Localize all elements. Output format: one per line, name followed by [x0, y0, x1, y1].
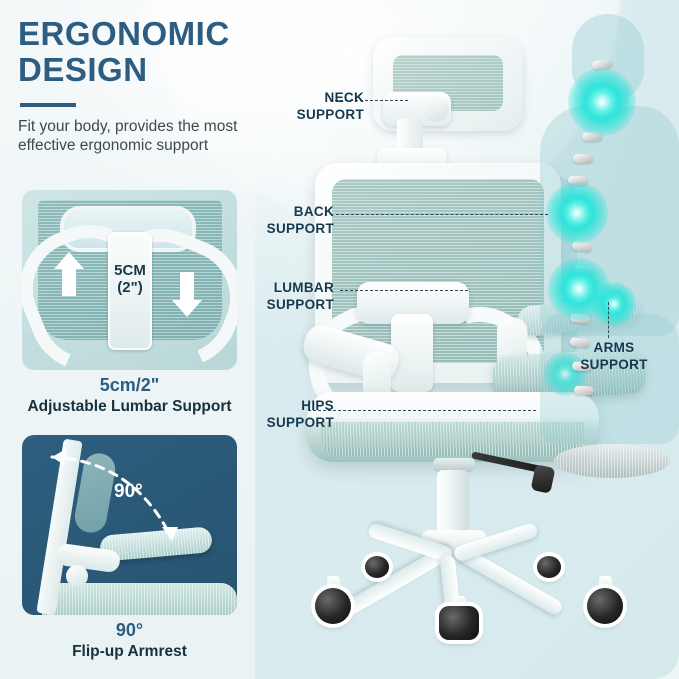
glow-midback-core [564, 200, 590, 226]
human-spine-silhouette [540, 14, 679, 484]
header-block: ERGONOMIC DESIGN Fit your body, provides… [18, 16, 280, 156]
callout-hips-support: HIPS SUPPORT [222, 398, 334, 432]
vertebra-5 [573, 154, 593, 163]
lumbar-measure-in: (2") [98, 279, 162, 296]
callout-back-support: BACK SUPPORT [222, 204, 334, 238]
down-arrow-icon [180, 272, 194, 300]
glow-lumbar-core [566, 276, 592, 302]
caster-right-rear [537, 556, 561, 578]
caster-left-rear [365, 556, 389, 578]
subtitle: Fit your body, provides the most effecti… [18, 117, 270, 157]
rotation-arc-arrow-icon [22, 435, 237, 615]
callout-arms-support: ARMS SUPPORT [562, 340, 666, 374]
feature-panel-lumbar: 5CM (2") [22, 190, 237, 370]
leader-line-hips [308, 410, 536, 411]
caption-armrest: 90° Flip-up Armrest [0, 619, 259, 662]
title-underline-rule [20, 103, 76, 107]
caption-lumbar-text: Adjustable Lumbar Support [0, 397, 259, 417]
caption-lumbar: 5cm/2" Adjustable Lumbar Support [0, 374, 259, 417]
caster-left-front [315, 588, 351, 624]
armrest-angle-label: 90° [114, 481, 143, 503]
up-arrow-icon [62, 268, 76, 296]
leader-line-arms [608, 302, 609, 338]
lumbar-measure-label: 5CM (2") [98, 262, 162, 297]
leader-line-lumbar [340, 290, 468, 291]
caption-armrest-value: 90° [0, 619, 259, 642]
caster-center-front [439, 606, 479, 640]
leader-line-back [336, 214, 548, 215]
callout-neck-support: NECK SUPPORT [252, 90, 364, 124]
title-line-1: ERGONOMIC [18, 15, 230, 52]
vertebra-15 [574, 386, 594, 396]
page-title: ERGONOMIC DESIGN [18, 16, 280, 89]
caption-armrest-text: Flip-up Armrest [0, 642, 259, 662]
lumbar-measure-cm: 5CM [98, 262, 162, 279]
glow-neck-core [588, 88, 616, 116]
silhouette-hips [540, 314, 679, 444]
headrest-adjust-knob [423, 96, 449, 122]
silhouette-seat-disc [554, 444, 670, 478]
feature-panel-armrest: 90° [22, 435, 237, 615]
caster-right-front [587, 588, 623, 624]
caption-lumbar-value: 5cm/2" [0, 374, 259, 397]
callout-lumbar-support: LUMBAR SUPPORT [222, 280, 334, 314]
title-line-2: DESIGN [18, 52, 280, 88]
infographic-page: ERGONOMIC DESIGN Fit your body, provides… [0, 0, 679, 679]
